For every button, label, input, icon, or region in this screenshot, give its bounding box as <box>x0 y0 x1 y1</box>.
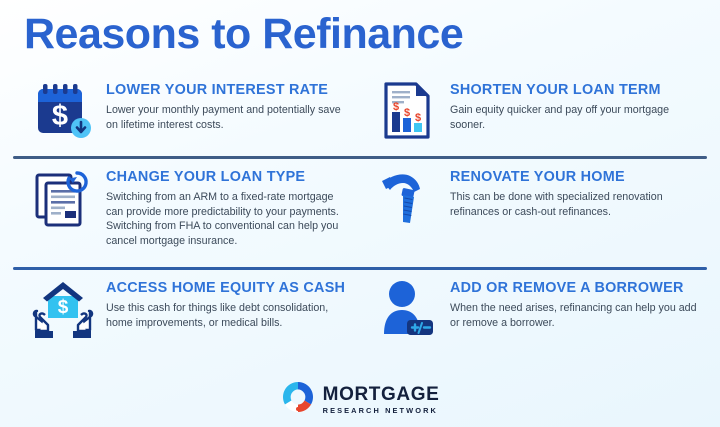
reason-text-block: RENOVATE YOUR HOME This can be done with… <box>444 165 710 219</box>
reason-body: Use this cash for things like debt conso… <box>106 301 348 330</box>
reason-body: Lower your monthly payment and potential… <box>106 103 348 132</box>
svg-text:$: $ <box>393 101 399 113</box>
reason-card-renovate-home: RENOVATE YOUR HOME This can be done with… <box>360 159 720 267</box>
reason-heading: RENOVATE YOUR HOME <box>450 169 710 186</box>
reason-heading: ACCESS HOME EQUITY AS CASH <box>106 280 348 297</box>
svg-text:$: $ <box>52 100 68 132</box>
svg-text:$: $ <box>404 107 410 119</box>
gauge-circle-icon <box>281 380 315 419</box>
reason-text-block: ADD OR REMOVE A BORROWER When the need a… <box>444 276 710 330</box>
reason-body: Gain equity quicker and pay off your mor… <box>450 103 702 132</box>
calendar-dollar-down-icon: $ <box>26 78 100 152</box>
reason-heading: LOWER YOUR INTEREST RATE <box>106 82 348 99</box>
reasons-row-1: $ LOWER YOUR INTEREST RATE Lower your mo… <box>0 72 720 156</box>
svg-text:$: $ <box>415 112 421 124</box>
reason-text-block: LOWER YOUR INTEREST RATE Lower your mont… <box>100 78 348 132</box>
hands-house-dollar-icon: $ <box>26 276 100 350</box>
person-plus-minus-icon <box>370 276 444 350</box>
reason-heading: ADD OR REMOVE A BORROWER <box>450 280 710 297</box>
reasons-grid: $ LOWER YOUR INTEREST RATE Lower your mo… <box>0 72 720 362</box>
brand-logo: MORTGAGE RESEARCH NETWORK <box>0 380 720 419</box>
logo-text-block: MORTGAGE RESEARCH NETWORK <box>323 385 440 414</box>
reason-card-add-remove-borrower: ADD OR REMOVE A BORROWER When the need a… <box>360 270 720 362</box>
reason-card-shorten-loan-term: $ $ $ SHORTEN YOUR LOAN TERM Gain equity… <box>360 72 720 156</box>
page-title: Reasons to Refinance <box>24 8 463 60</box>
reason-body: When the need arises, refinancing can he… <box>450 301 702 330</box>
infographic-root: Reasons to Refinance $ <box>0 0 720 427</box>
reason-heading: CHANGE YOUR LOAN TYPE <box>106 169 348 186</box>
reason-heading: SHORTEN YOUR LOAN TERM <box>450 82 710 99</box>
reason-card-change-loan-type: CHANGE YOUR LOAN TYPE Switching from an … <box>0 159 360 267</box>
reason-card-lower-interest-rate: $ LOWER YOUR INTEREST RATE Lower your mo… <box>0 72 360 156</box>
svg-text:$: $ <box>58 297 69 318</box>
logo-name: MORTGAGE <box>323 385 440 404</box>
reason-body: This can be done with specialized renova… <box>450 190 702 219</box>
reason-card-access-home-equity: $ ACCESS HOME EQUITY AS CASH Use this ca… <box>0 270 360 362</box>
reason-text-block: SHORTEN YOUR LOAN TERM Gain equity quick… <box>444 78 710 132</box>
document-bar-chart-dollar-icon: $ $ $ <box>370 78 444 152</box>
reason-text-block: ACCESS HOME EQUITY AS CASH Use this cash… <box>100 276 348 330</box>
logo-tagline: RESEARCH NETWORK <box>323 407 440 414</box>
hammer-icon <box>370 165 444 239</box>
reason-text-block: CHANGE YOUR LOAN TYPE Switching from an … <box>100 165 348 248</box>
reasons-row-2: CHANGE YOUR LOAN TYPE Switching from an … <box>0 159 720 267</box>
documents-refresh-icon <box>26 165 100 239</box>
reasons-row-3: $ ACCESS HOME EQUITY AS CASH Use this ca… <box>0 270 720 362</box>
reason-body: Switching from an ARM to a fixed-rate mo… <box>106 190 348 248</box>
